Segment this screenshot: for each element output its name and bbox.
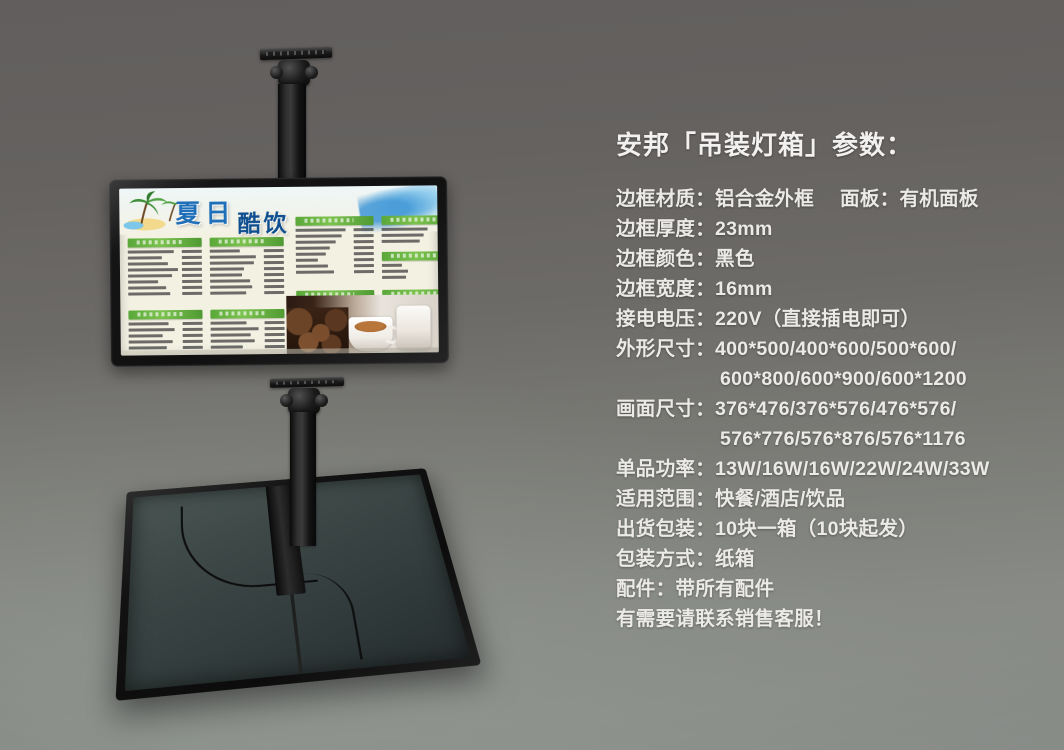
menu-section-right-2 xyxy=(382,251,439,284)
menu-row xyxy=(129,339,203,344)
menu-row xyxy=(128,267,202,272)
menu-row xyxy=(296,257,374,262)
spec-value: 220V（直接插电即可） xyxy=(715,308,920,330)
menu-rows xyxy=(296,227,374,274)
menu-row xyxy=(129,333,203,338)
menu-row xyxy=(296,251,374,256)
section-header-bar xyxy=(381,215,438,225)
spec-value: 10块一箱（10块起发） xyxy=(715,518,918,540)
menu-row xyxy=(210,248,284,253)
spec-label: 边框宽度： xyxy=(616,278,715,300)
menu-row xyxy=(296,239,374,244)
menu-row xyxy=(210,260,284,265)
menu-section-right-1 xyxy=(381,215,438,248)
spec-line-picture-size: 画面尺寸：376*476/376*576/476*576/ xyxy=(616,394,1046,424)
spec-label-panel: 面板： xyxy=(840,188,899,210)
menu-row xyxy=(382,262,439,267)
menu-row xyxy=(210,272,284,277)
menu-row xyxy=(382,238,439,243)
spec-line-contact-cta: 有需要请联系销售客服！ xyxy=(616,604,1046,634)
menu-row xyxy=(210,291,284,296)
menu-row xyxy=(296,227,374,232)
spec-value: 400*500/400*600/500*600/ xyxy=(715,338,956,360)
menu-row xyxy=(129,327,203,332)
spec-line-packing-method: 包装方式：纸箱 xyxy=(616,544,1046,574)
spec-label: 接电电压： xyxy=(616,308,715,330)
menu-row xyxy=(382,232,439,237)
spec-label: 外形尺寸： xyxy=(616,338,715,360)
menu-row xyxy=(211,326,285,331)
spec-line-shipping-pack: 出货包装：10块一箱（10块起发） xyxy=(616,514,1046,544)
ceiling-plate-upper xyxy=(260,47,332,61)
spec-value-panel: 有机面板 xyxy=(899,188,978,210)
section-header-bar xyxy=(382,251,439,261)
menu-row xyxy=(128,279,202,284)
spec-title: 安邦「吊装灯箱」参数： xyxy=(616,128,1046,162)
spec-value: 376*476/376*576/476*576/ xyxy=(715,398,956,420)
menu-row xyxy=(211,320,285,325)
spec-value: 铝合金外框 xyxy=(715,188,814,210)
coffee-cup-image xyxy=(348,317,392,351)
section-header-bar xyxy=(128,238,202,248)
spec-label: 单品功率： xyxy=(616,458,715,480)
drop-pole-lower xyxy=(290,412,316,546)
ceiling-mount-upper xyxy=(248,48,344,182)
menu-row xyxy=(382,268,439,273)
menu-rows xyxy=(382,226,439,243)
menu-section-mid-1 xyxy=(295,216,374,279)
menu-title-char-0: 夏 xyxy=(175,194,200,230)
coffee-photo xyxy=(286,294,439,354)
product-photo-scene: 夏 日 酷 饮 xyxy=(0,0,1064,750)
menu-row xyxy=(210,266,284,271)
lightbox-upper: 夏 日 酷 饮 xyxy=(109,176,449,367)
power-cable-lower xyxy=(302,570,364,664)
menu-row xyxy=(382,274,439,279)
spec-value: 16mm xyxy=(715,278,773,300)
menu-section-left-1 xyxy=(128,238,203,301)
spec-line-accessories: 配件：带所有配件 xyxy=(616,574,1046,604)
menu-row xyxy=(128,291,202,296)
menu-rows xyxy=(210,248,284,295)
spec-line-outer-size: 外形尺寸：400*500/400*600/500*600/ xyxy=(616,334,1046,364)
menu-row xyxy=(211,338,285,343)
menu-screen: 夏 日 酷 饮 xyxy=(119,185,439,355)
spec-label: 画面尺寸： xyxy=(616,398,715,420)
menu-row xyxy=(129,321,203,326)
menu-row xyxy=(210,285,284,290)
section-header-bar xyxy=(295,216,373,226)
section-header-bar xyxy=(210,309,284,319)
spec-line-frame-material: 边框材质：铝合金外框面板：有机面板 xyxy=(616,184,1046,214)
menu-rows xyxy=(382,262,439,279)
spec-line-frame-thickness: 边框厚度：23mm xyxy=(616,214,1046,244)
spec-value: 23mm xyxy=(715,218,773,240)
menu-row xyxy=(210,254,284,259)
spec-label: 包装方式： xyxy=(616,548,715,570)
spec-line-frame-width: 边框宽度：16mm xyxy=(616,274,1046,304)
menu-row xyxy=(296,233,374,238)
adjust-knob-left-lower xyxy=(280,394,293,407)
milk-pitcher-image xyxy=(396,305,430,349)
spec-line-power: 单品功率：13W/16W/16W/22W/24W/33W xyxy=(616,454,1046,484)
menu-title-char-1: 日 xyxy=(205,194,230,230)
lightbox-frame-upper: 夏 日 酷 饮 xyxy=(109,176,449,367)
menu-row xyxy=(296,245,374,250)
menu-row xyxy=(382,226,439,231)
menu-title-char-2: 酷 xyxy=(237,204,260,238)
spec-line-picture-size-cont: 576*776/576*876/576*1176 xyxy=(616,424,1046,454)
menu-row xyxy=(128,285,202,290)
spec-value: 黑色 xyxy=(715,248,755,270)
section-header-bar xyxy=(210,237,284,247)
spec-label: 出货包装： xyxy=(616,518,715,540)
drop-pole-upper xyxy=(278,84,306,184)
section-header-bar xyxy=(128,310,202,320)
spec-line-voltage: 接电电压：220V（直接插电即可） xyxy=(616,304,1046,334)
menu-section-bottom-2 xyxy=(210,309,284,354)
menu-row xyxy=(296,264,374,269)
spec-label: 边框颜色： xyxy=(616,248,715,270)
ceiling-mount-lower xyxy=(262,378,358,528)
menu-row xyxy=(128,261,202,266)
menu-row xyxy=(211,332,285,337)
spec-value: 13W/16W/16W/22W/24W/33W xyxy=(715,458,990,480)
spec-line-outer-size-cont: 600*800/600*900/600*1200 xyxy=(616,364,1046,394)
adjust-knob-right-lower xyxy=(315,394,328,407)
menu-rows xyxy=(129,321,203,350)
menu-row xyxy=(128,273,202,278)
spec-label: 边框厚度： xyxy=(616,218,715,240)
menu-section-left-2 xyxy=(210,237,285,300)
spec-line-frame-color: 边框颜色：黑色 xyxy=(616,244,1046,274)
menu-row xyxy=(128,249,202,254)
spec-value: 纸箱 xyxy=(715,548,755,570)
coffee-beans-image xyxy=(286,307,348,354)
spec-line-application: 适用范围：快餐/酒店/饮品 xyxy=(616,484,1046,514)
spec-value: 带所有配件 xyxy=(675,578,774,600)
spec-label: 边框材质： xyxy=(616,188,715,210)
menu-rows xyxy=(128,249,202,296)
menu-row xyxy=(210,278,284,283)
menu-row xyxy=(128,255,202,260)
menu-section-bottom-1 xyxy=(128,310,202,355)
adjust-knob-left-upper xyxy=(270,66,283,79)
plate-holes-icon xyxy=(276,380,338,385)
adjust-knob-right-upper xyxy=(305,66,318,79)
menu-row xyxy=(296,270,374,275)
ceiling-plate-lower xyxy=(270,377,344,388)
spec-label: 适用范围： xyxy=(616,488,715,510)
menu-rows xyxy=(211,320,285,349)
spec-label: 配件： xyxy=(616,578,675,600)
spec-value: 快餐/酒店/饮品 xyxy=(715,488,845,510)
plate-holes-icon xyxy=(266,50,327,56)
spec-panel: 安邦「吊装灯箱」参数： 边框材质：铝合金外框面板：有机面板 边框厚度：23mm … xyxy=(616,128,1046,634)
menu-title-char-3: 饮 xyxy=(263,204,286,238)
